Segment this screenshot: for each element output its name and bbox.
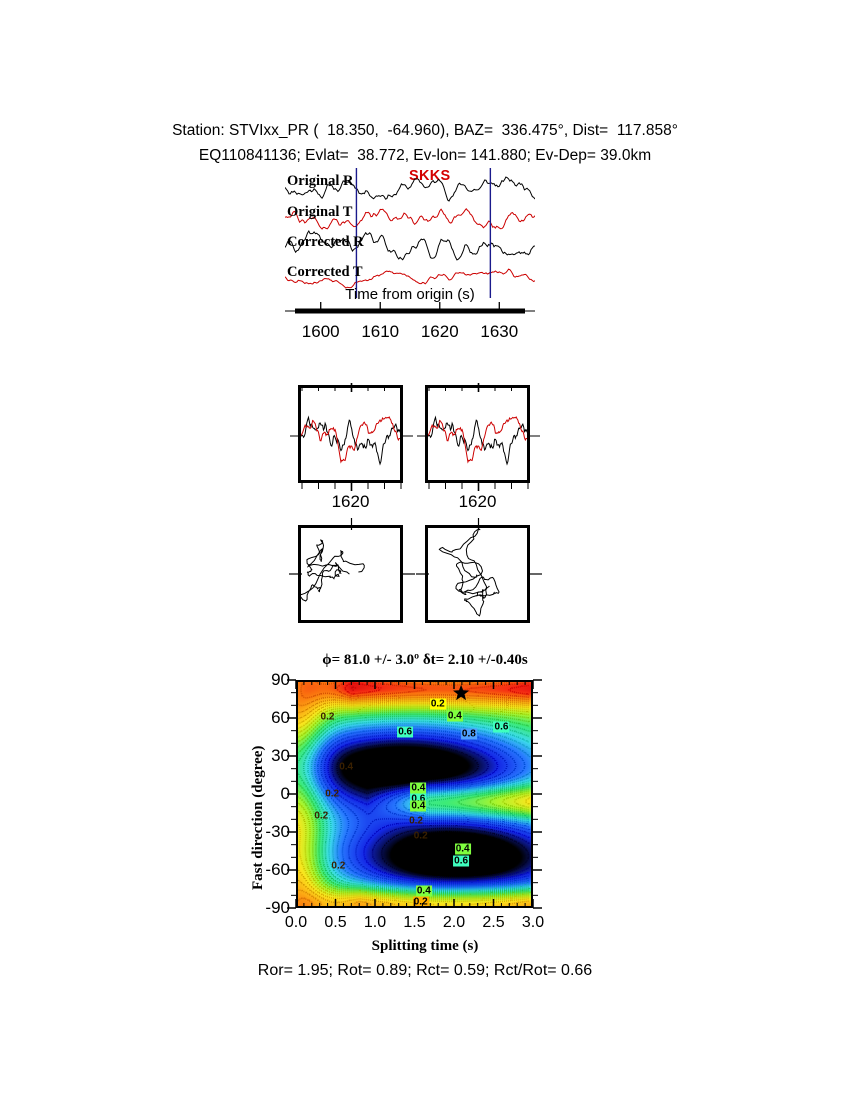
figure-header: Station: STVIxx_PR ( 18.350, -64.960), B… bbox=[0, 118, 850, 168]
compare-box-after-tick-label: 1620 bbox=[425, 492, 530, 512]
contour-xtick-0.5: 0.5 bbox=[324, 914, 346, 932]
time-axis-line bbox=[285, 300, 535, 322]
contour-xlabel: Splitting time (s) bbox=[0, 938, 850, 955]
station-info-line: Station: STVIxx_PR ( 18.350, -64.960), B… bbox=[0, 118, 850, 143]
time-tick-1630: 1630 bbox=[480, 322, 518, 342]
trace-label-corrected-r: Corrected R bbox=[287, 234, 364, 251]
trace-label-corrected-t: Corrected T bbox=[287, 264, 363, 281]
contour-title: ϕ= 81.0 +/- 3.0º δt= 2.10 +/-0.40s bbox=[0, 652, 850, 669]
waveform-panel: Original R Original T Corrected R Correc… bbox=[285, 168, 535, 298]
trace-label-original-r: Original R bbox=[287, 173, 353, 190]
time-tick-1600: 1600 bbox=[302, 322, 340, 342]
time-axis-title: Time from origin (s) bbox=[285, 286, 535, 303]
particle-motion-axes bbox=[288, 518, 542, 630]
time-tick-1610: 1610 bbox=[361, 322, 399, 342]
contour-xtick-labels: 0.00.51.01.52.02.53.0 bbox=[296, 914, 533, 936]
contour-axis-ticks bbox=[286, 676, 546, 920]
compare-box-before-tick-label: 1620 bbox=[298, 492, 403, 512]
time-tick-1620: 1620 bbox=[421, 322, 459, 342]
time-axis: Time from origin (s) 1600161016201630 bbox=[285, 300, 535, 327]
compare-box-ticks bbox=[288, 383, 542, 493]
contour-xtick-3.0: 3.0 bbox=[522, 914, 544, 932]
contour-ytick-labels: 9060300-30-60-90 bbox=[248, 680, 290, 908]
footer-statistics: Ror= 1.95; Rot= 0.89; Rct= 0.59; Rct/Rot… bbox=[0, 962, 850, 980]
contour-xtick-0.0: 0.0 bbox=[285, 914, 307, 932]
contour-xtick-2.0: 2.0 bbox=[443, 914, 465, 932]
contour-xtick-1.0: 1.0 bbox=[364, 914, 386, 932]
contour-xtick-1.5: 1.5 bbox=[403, 914, 425, 932]
contour-xtick-2.5: 2.5 bbox=[482, 914, 504, 932]
event-info-line: EQ110841136; Evlat= 38.772, Ev-lon= 141.… bbox=[0, 143, 850, 168]
trace-label-original-t: Original T bbox=[287, 204, 352, 221]
